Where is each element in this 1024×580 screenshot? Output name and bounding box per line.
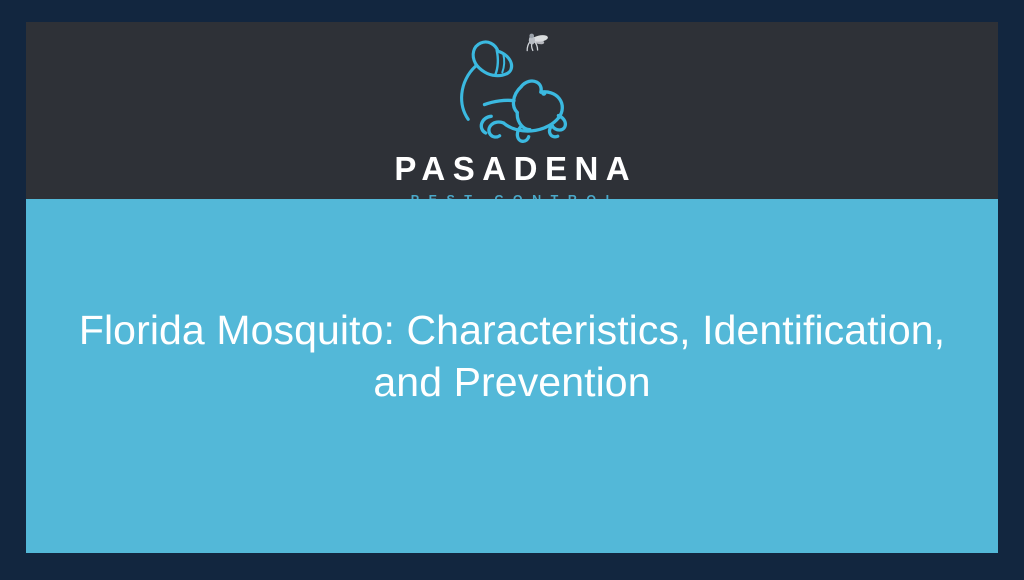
brand-wordmark: PASADENA <box>387 152 637 185</box>
brand-logo[interactable]: PASADENA PEST CONTROL <box>26 22 998 199</box>
mouse-with-bug-net-logo <box>437 26 587 154</box>
logo-band: PASADENA PEST CONTROL <box>26 22 998 199</box>
hero-band: Florida Mosquito: Characteristics, Ident… <box>26 199 998 553</box>
mouse-shape <box>481 81 565 141</box>
outer-frame: PASADENA PEST CONTROL Florida Mosquito: … <box>0 0 1024 580</box>
mosquito-icon <box>527 34 548 51</box>
page-title: Florida Mosquito: Characteristics, Ident… <box>52 305 972 408</box>
bug-net-shape <box>462 42 512 119</box>
mouse-eye <box>541 91 546 96</box>
article-card: PASADENA PEST CONTROL Florida Mosquito: … <box>26 22 998 553</box>
